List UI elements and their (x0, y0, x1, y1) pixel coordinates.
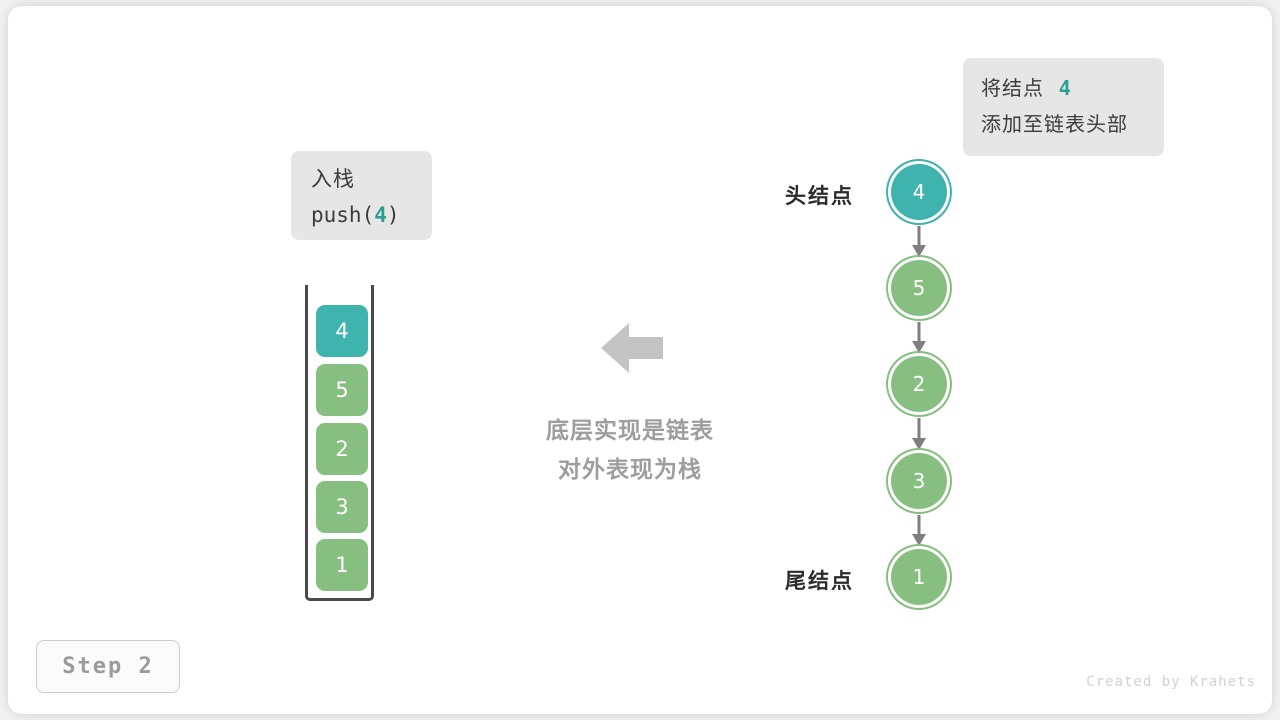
list-node: 4 (891, 164, 947, 220)
push-code-value: 4 (374, 203, 387, 227)
node-annotation-value: 4 (1059, 76, 1072, 100)
push-code-suffix: ) (387, 203, 400, 227)
list-node-value: 2 (913, 372, 926, 396)
stack-cell: 4 (316, 305, 368, 357)
list-node-value: 1 (913, 565, 926, 589)
stack-cell: 1 (316, 539, 368, 591)
node-annotation-prefix: 将结点 (981, 76, 1044, 100)
middle-caption-line1: 底层实现是链表 (490, 412, 770, 451)
list-node: 5 (891, 260, 947, 316)
middle-caption-line2: 对外表现为栈 (490, 451, 770, 490)
stack-cell: 2 (316, 423, 368, 475)
list-node-value: 3 (913, 469, 926, 493)
push-annotation-code: push(4) (311, 200, 432, 232)
step-badge: Step 2 (36, 640, 180, 693)
list-node: 1 (891, 549, 947, 605)
stack-cell: 5 (316, 364, 368, 416)
credit-text: Created by Krahets (1086, 674, 1256, 690)
push-annotation-title: 入栈 (311, 164, 432, 196)
list-node-value: 4 (913, 180, 926, 204)
node-annotation-line1: 将结点 4 (981, 73, 1164, 103)
head-node-label: 头结点 (785, 180, 854, 210)
left-arrow-icon (601, 320, 663, 376)
middle-caption: 底层实现是链表 对外表现为栈 (490, 412, 770, 490)
push-code-prefix: push( (311, 203, 374, 227)
push-annotation-box: 入栈 push(4) (291, 151, 432, 240)
tail-node-label: 尾结点 (785, 565, 854, 595)
diagram-canvas: 入栈 push(4) 将结点 4 添加至链表头部 45231 底层实现是链表 对… (0, 0, 1280, 720)
stack-cell: 3 (316, 481, 368, 533)
list-node-value: 5 (913, 276, 926, 300)
list-node: 2 (891, 356, 947, 412)
node-annotation-line2: 添加至链表头部 (981, 109, 1164, 139)
stack-container: 45231 (305, 285, 374, 601)
list-node: 3 (891, 453, 947, 509)
node-annotation-box: 将结点 4 添加至链表头部 (963, 58, 1164, 156)
